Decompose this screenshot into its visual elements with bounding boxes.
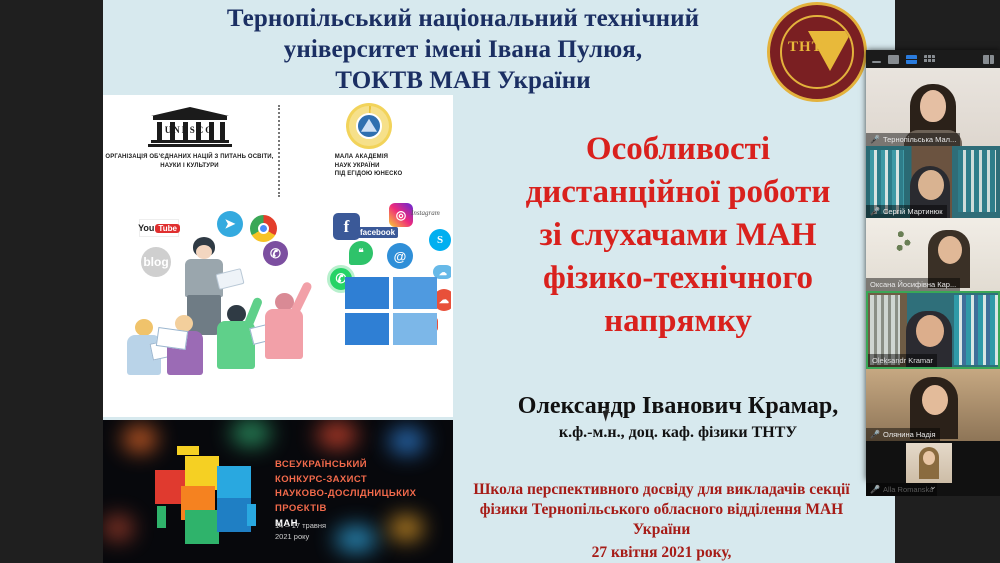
man-caption-l1: МАЛА АКАДЕМІЯ xyxy=(335,153,403,162)
zoom-video-panel[interactable]: 🎤 Тернопільська Мал... 🎤 Сергій Мартинюк xyxy=(866,50,1000,480)
video-tile[interactable]: Оксана Йосифівна Кар... xyxy=(866,218,1000,291)
participant-name: Олянина Надія xyxy=(883,430,936,439)
viber-icon: ✆ xyxy=(263,241,288,266)
participant-name: Alla Romanska xyxy=(883,485,933,494)
chrome-icon xyxy=(250,215,277,242)
contest-banner: ВСЕУКРАЇНСЬКИЙ КОНКУРС-ЗАХИСТ НАУКОВО-ДО… xyxy=(103,420,453,563)
video-tile[interactable]: 🎤 Alla Romanska ⌄ xyxy=(866,441,1000,496)
contest-line-4: ПРОЄКТІВ xyxy=(275,502,416,517)
instagram-icon: ◎ xyxy=(389,203,413,227)
unesco-caption: ОРГАНІЗАЦІЯ ОБ'ЄДНАНИХ НАЦІЙ З ПИТАНЬ ОС… xyxy=(105,153,274,170)
slide-footer: Школа перспективного досвіду для виклада… xyxy=(428,480,895,563)
tntu-emblem-icon: ТНТ xyxy=(767,2,867,102)
instagram-wordmark: Instagram xyxy=(411,209,440,217)
grid-view-icon[interactable] xyxy=(924,55,935,64)
author-role: к.ф.-м.н., доц. каф. фізики ТНТУ xyxy=(458,424,898,442)
hangouts-icon: ❝ xyxy=(349,241,373,265)
mic-muted-icon: 🎤 xyxy=(870,431,880,439)
participant-name-badge: 🎤 Олянина Надія xyxy=(866,428,940,441)
man-contest-cube-logo xyxy=(155,444,263,548)
chevron-down-icon[interactable]: ⌄ xyxy=(929,481,937,492)
contest-date-2: 2021 року xyxy=(275,531,326,542)
author-name: Олександр Іванович Крамар, xyxy=(458,392,898,421)
white-content-panel: UNESCO ОРГАНІЗАЦІЯ ОБ'ЄДНАНИХ НАЦІЙ З ПИ… xyxy=(103,95,453,417)
contest-date-1: 14 – 17 травня xyxy=(275,520,326,531)
man-logo-block: МАЛА АКАДЕМІЯ НАУК УКРАЇНИ ПІД ЕГІДОЮ ЮН… xyxy=(284,103,453,195)
contest-date: 14 – 17 травня 2021 року xyxy=(275,520,326,543)
participant-video xyxy=(906,443,952,483)
footer-line-3: України xyxy=(428,520,895,540)
contest-line-2: КОНКУРС-ЗАХИСТ xyxy=(275,473,416,488)
man-caption-l2: НАУК УКРАЇНИ xyxy=(335,162,403,171)
author-block: Олександр Іванович Крамар, к.ф.-м.н., до… xyxy=(458,392,898,442)
mic-muted-icon: 🎤 xyxy=(870,136,880,144)
participant-name-badge: Oleksandr Kramar xyxy=(868,354,937,367)
zoom-view-toolbar[interactable] xyxy=(866,50,1000,68)
blog-icon: blog xyxy=(141,247,171,277)
video-tile[interactable]: 🎤 Тернопільська Мал... xyxy=(866,68,1000,146)
header-line-2: університет імені Івана Пулюя, xyxy=(153,35,773,66)
screen: Тернопільський національний технічний ун… xyxy=(0,0,1000,563)
distance-learning-illustration: YouTube blog ➤ ✆ xyxy=(105,199,451,413)
mic-muted-icon: 🎤 xyxy=(870,486,880,494)
slide-main-title: Особливості дистанційної роботи зі слуха… xyxy=(458,128,898,342)
logos-row: UNESCO ОРГАНІЗАЦІЯ ОБ'ЄДНАНИХ НАЦІЙ З ПИ… xyxy=(105,103,453,195)
participant-name: Оксана Йосифівна Кар... xyxy=(870,280,956,289)
minimize-icon[interactable] xyxy=(872,61,881,63)
participant-name: Тернопільська Мал... xyxy=(883,135,956,144)
student-figure xyxy=(263,285,311,377)
footer-line-1: Школа перспективного досвіду для виклада… xyxy=(428,480,895,500)
header-line-1: Тернопільський національний технічний xyxy=(153,4,773,35)
split-view-icon[interactable] xyxy=(906,55,917,64)
man-sun-icon xyxy=(346,103,392,149)
participant-name-badge: 🎤 Сергій Мартинюк xyxy=(866,205,947,218)
man-caption-l3: ПІД ЕГІДОЮ ЮНЕСКО xyxy=(335,170,403,179)
contest-line-3: НАУКОВО-ДОСЛІДНИЦЬКИХ xyxy=(275,487,416,502)
footer-line-2: фізики Тернопільського обласного відділе… xyxy=(428,500,895,520)
footer-line-4: 27 квітня 2021 року, xyxy=(428,543,895,563)
tntu-abbr: ТНТ xyxy=(788,39,823,56)
main-title-line-2: дистанційної роботи xyxy=(458,171,898,214)
main-title-line-4: фізико-технічного xyxy=(458,257,898,300)
video-tile-active-speaker[interactable]: Oleksandr Kramar xyxy=(866,291,1000,369)
email-icon: @ xyxy=(387,243,413,269)
skype-icon: S xyxy=(429,229,451,251)
man-caption: МАЛА АКАДЕМІЯ НАУК УКРАЇНИ ПІД ЕГІДОЮ ЮН… xyxy=(335,153,403,179)
single-view-icon[interactable] xyxy=(888,55,899,64)
header-line-3: ТОКТВ МАН України xyxy=(153,66,773,97)
participant-name: Oleksandr Kramar xyxy=(872,356,933,365)
facebook-wordmark: facebook xyxy=(357,227,398,238)
telegram-icon: ➤ xyxy=(217,211,243,237)
slide-header: Тернопільський національний технічний ун… xyxy=(153,4,773,96)
unesco-icon: UNESCO xyxy=(151,103,229,149)
presentation-slide: Тернопільський національний технічний ун… xyxy=(103,0,895,563)
participant-name: Сергій Мартинюк xyxy=(883,207,943,216)
main-title-line-3: зі слухачами МАН xyxy=(458,214,898,257)
video-tile[interactable]: 🎤 Сергій Мартинюк xyxy=(866,146,1000,218)
facebook-icon: f xyxy=(333,213,360,240)
video-tile[interactable]: 🎤 Олянина Надія xyxy=(866,369,1000,441)
unesco-logo-block: UNESCO ОРГАНІЗАЦІЯ ОБ'ЄДНАНИХ НАЦІЙ З ПИ… xyxy=(105,103,274,195)
windows-icon xyxy=(345,277,437,345)
mic-muted-icon: 🎤 xyxy=(870,208,880,216)
layout-toggle-icon[interactable] xyxy=(983,55,994,64)
main-title-line-1: Особливості xyxy=(458,128,898,171)
youtube-icon: YouTube xyxy=(139,219,179,237)
student-figure xyxy=(213,299,261,381)
contest-line-1: ВСЕУКРАЇНСЬКИЙ xyxy=(275,458,416,473)
participant-name-badge: Оксана Йосифівна Кар... xyxy=(866,278,960,291)
participant-name-badge: 🎤 Тернопільська Мал... xyxy=(866,133,960,146)
vertical-dotted-divider xyxy=(278,105,280,197)
participant-name-badge: 🎤 Alla Romanska xyxy=(866,483,937,496)
student-figure xyxy=(163,311,207,381)
main-title-line-5: напрямку xyxy=(458,300,898,343)
